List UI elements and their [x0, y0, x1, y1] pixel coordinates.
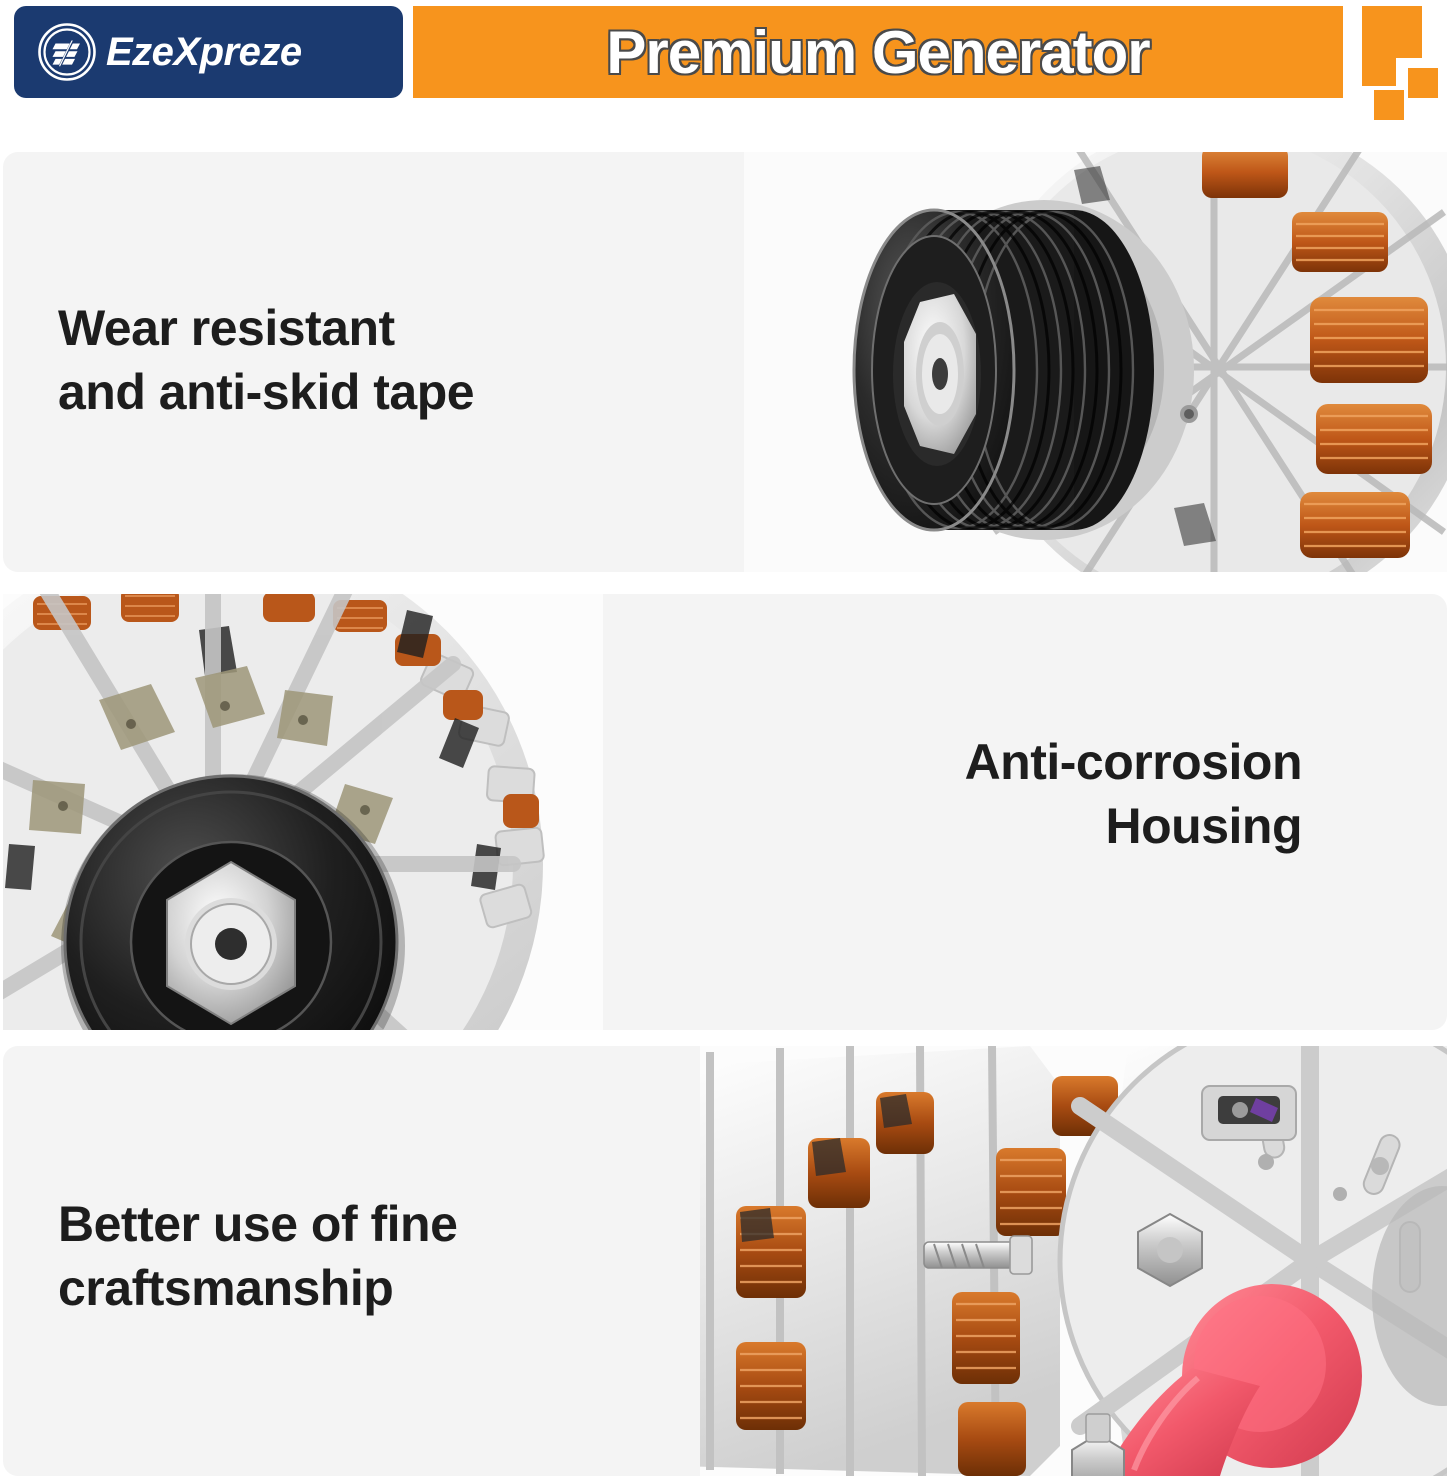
- orange-pixel-blocks-icon: [1350, 0, 1450, 122]
- brand-band: EzeXpreze: [14, 6, 403, 98]
- panel-caption: Anti-corrosion Housing: [965, 730, 1302, 858]
- page-title: Premium Generator: [606, 18, 1149, 87]
- alternator-body-terminal-photo: [700, 1046, 1447, 1476]
- brand-name: EzeXpreze: [106, 30, 302, 75]
- product-infographic-page: EzeXpreze Premium Generator: [0, 0, 1450, 1479]
- header: EzeXpreze Premium Generator: [0, 0, 1450, 118]
- ezexpreze-circle-z-logo-icon: [36, 21, 98, 83]
- panel-caption: Wear resistant and anti-skid tape: [58, 296, 474, 424]
- panel-caption: Better use of fine craftsmanship: [58, 1192, 457, 1320]
- title-band: Premium Generator: [413, 6, 1343, 98]
- alternator-pulley-closeup-photo: [744, 152, 1447, 572]
- alternator-front-fins-photo: [3, 594, 603, 1030]
